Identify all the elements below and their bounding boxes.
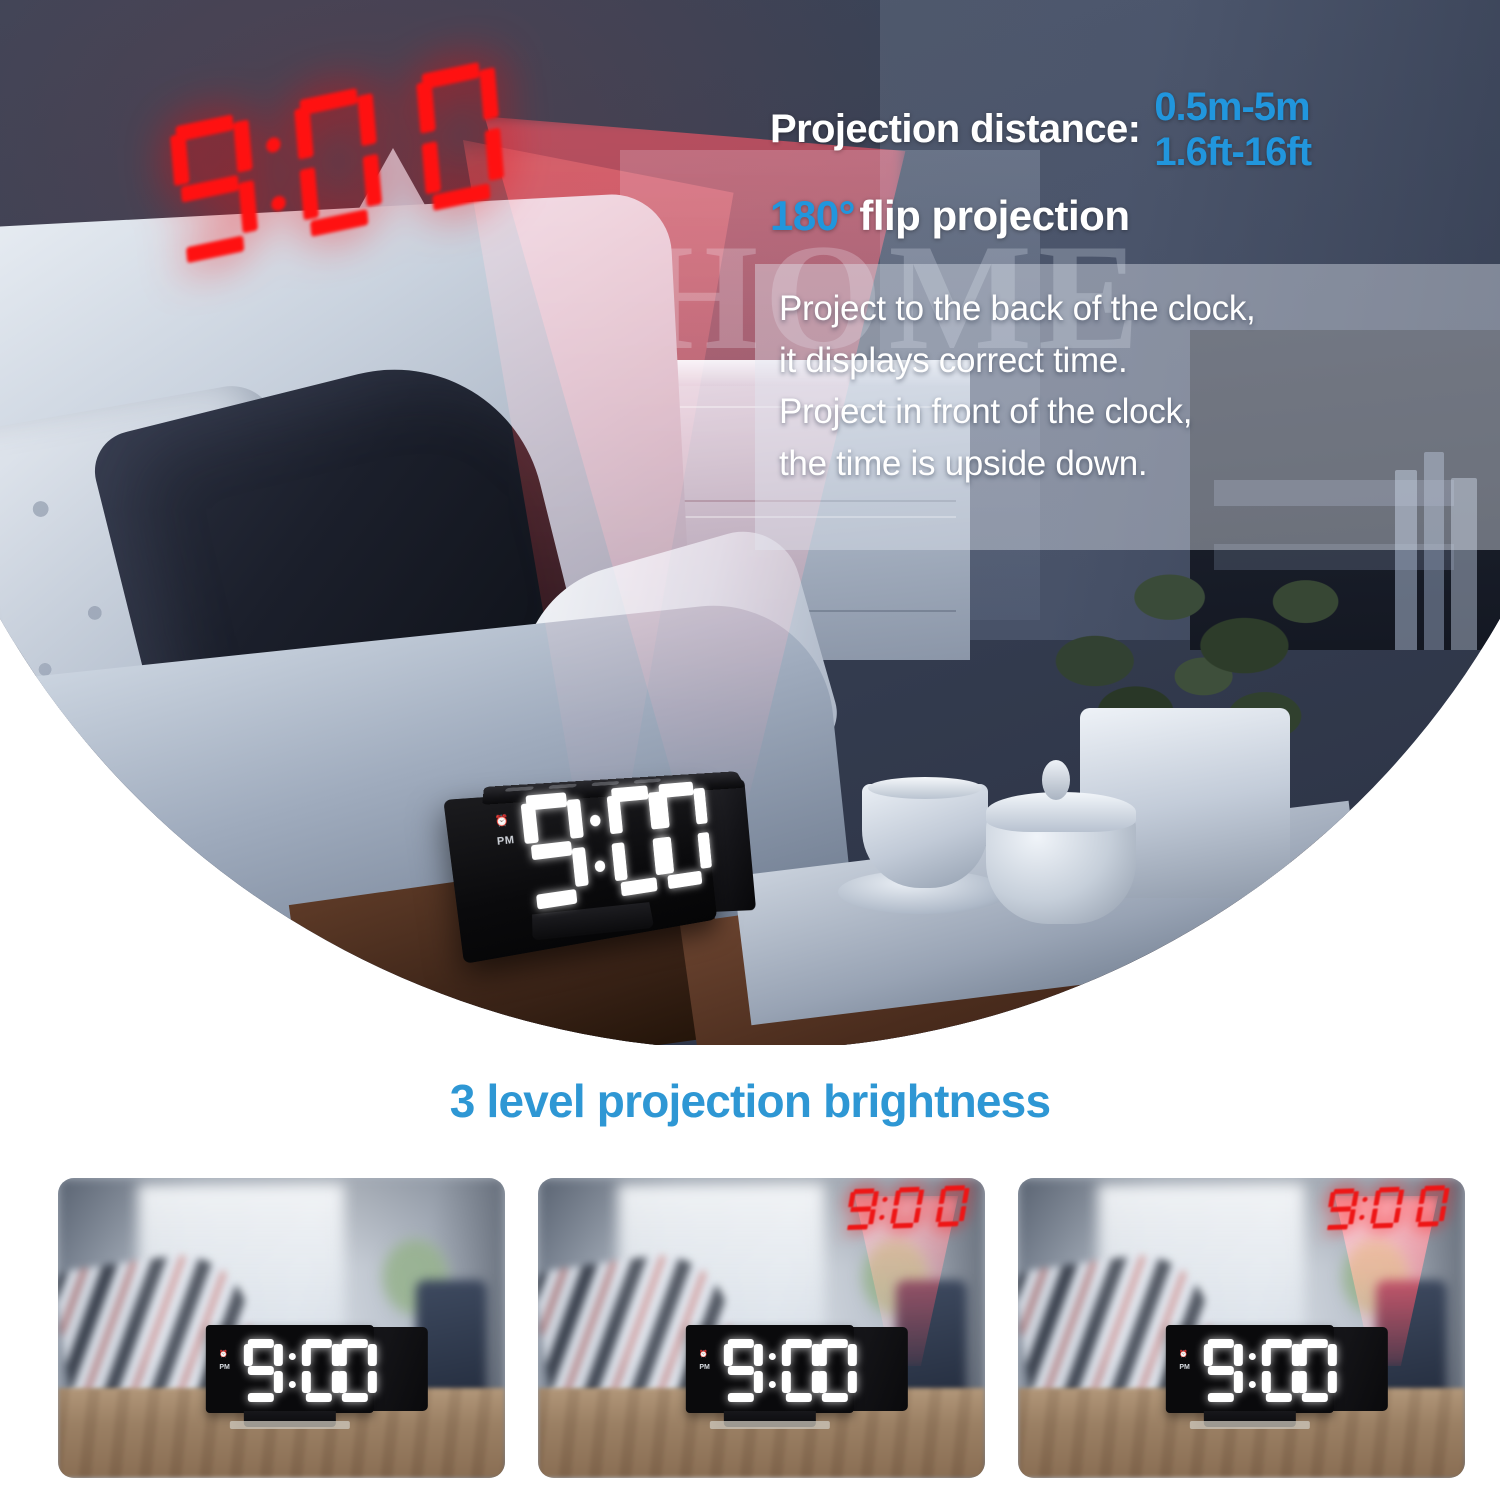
thumb-projected-time [1323,1185,1455,1231]
pm-indicator: PM [219,1364,230,1371]
projection-distance-header: Projection distance: 0.5m-5m 1.6ft-16ft [770,108,1470,174]
brightness-panel-level-3[interactable]: ⏰ PM [1018,1178,1465,1478]
flip-projection-label: flip projection [859,192,1129,239]
pm-indicator: PM [1179,1364,1190,1371]
thumb-clock-time-display [723,1339,841,1401]
thumb-clock-time-display [243,1339,361,1401]
thumb-clock-time-display [1203,1339,1321,1401]
flip-angle-value: 180° [770,192,855,239]
coffee-cup [862,784,988,888]
clock-button[interactable] [504,786,534,791]
clock-indicators: ⏰ PM [494,815,515,848]
alarm-bell-icon: ⏰ [494,815,513,828]
distance-metric: 0.5m-5m [1154,86,1311,129]
alarm-bell-icon: ⏰ [219,1351,230,1358]
pm-indicator: PM [497,835,516,848]
description-panel: Project to the back of the clock, it dis… [755,264,1500,550]
description-line: Project to the back of the clock, [779,286,1500,332]
flip-projection-header: 180° flip projection [770,192,1129,240]
product-feature-page: HOME [0,0,1500,1500]
projection-distance-label: Projection distance: [770,108,1140,150]
thumb-clock: ⏰ PM [205,1325,429,1421]
clock-button[interactable] [591,781,619,786]
thumb-clock: ⏰ PM [685,1325,909,1421]
alarm-bell-icon: ⏰ [1179,1351,1190,1358]
clock-button[interactable] [633,778,661,783]
brightness-panel-level-1[interactable]: ⏰ PM [58,1178,505,1478]
description-line: it displays correct time. [779,338,1500,384]
pm-indicator: PM [699,1364,710,1371]
brightness-section-title: 3 level projection brightness [0,1074,1500,1128]
alarm-bell-icon: ⏰ [699,1351,710,1358]
thumb-clock: ⏰ PM [1165,1325,1389,1421]
projection-distance-values: 0.5m-5m 1.6ft-16ft [1154,86,1311,174]
projection-alarm-clock[interactable]: ⏰ PM [470,740,790,955]
distance-imperial: 1.6ft-16ft [1154,131,1311,174]
sugar-bowl-knob [1042,760,1070,800]
description-line: Project in front of the clock, [779,389,1500,435]
description-line: the time is upside down. [779,441,1500,487]
brightness-levels-gallery: ⏰ PM [0,1178,1500,1488]
brightness-panel-level-2[interactable]: ⏰ PM [538,1178,985,1478]
thumb-projected-time [843,1185,975,1231]
clock-button[interactable] [548,783,577,788]
